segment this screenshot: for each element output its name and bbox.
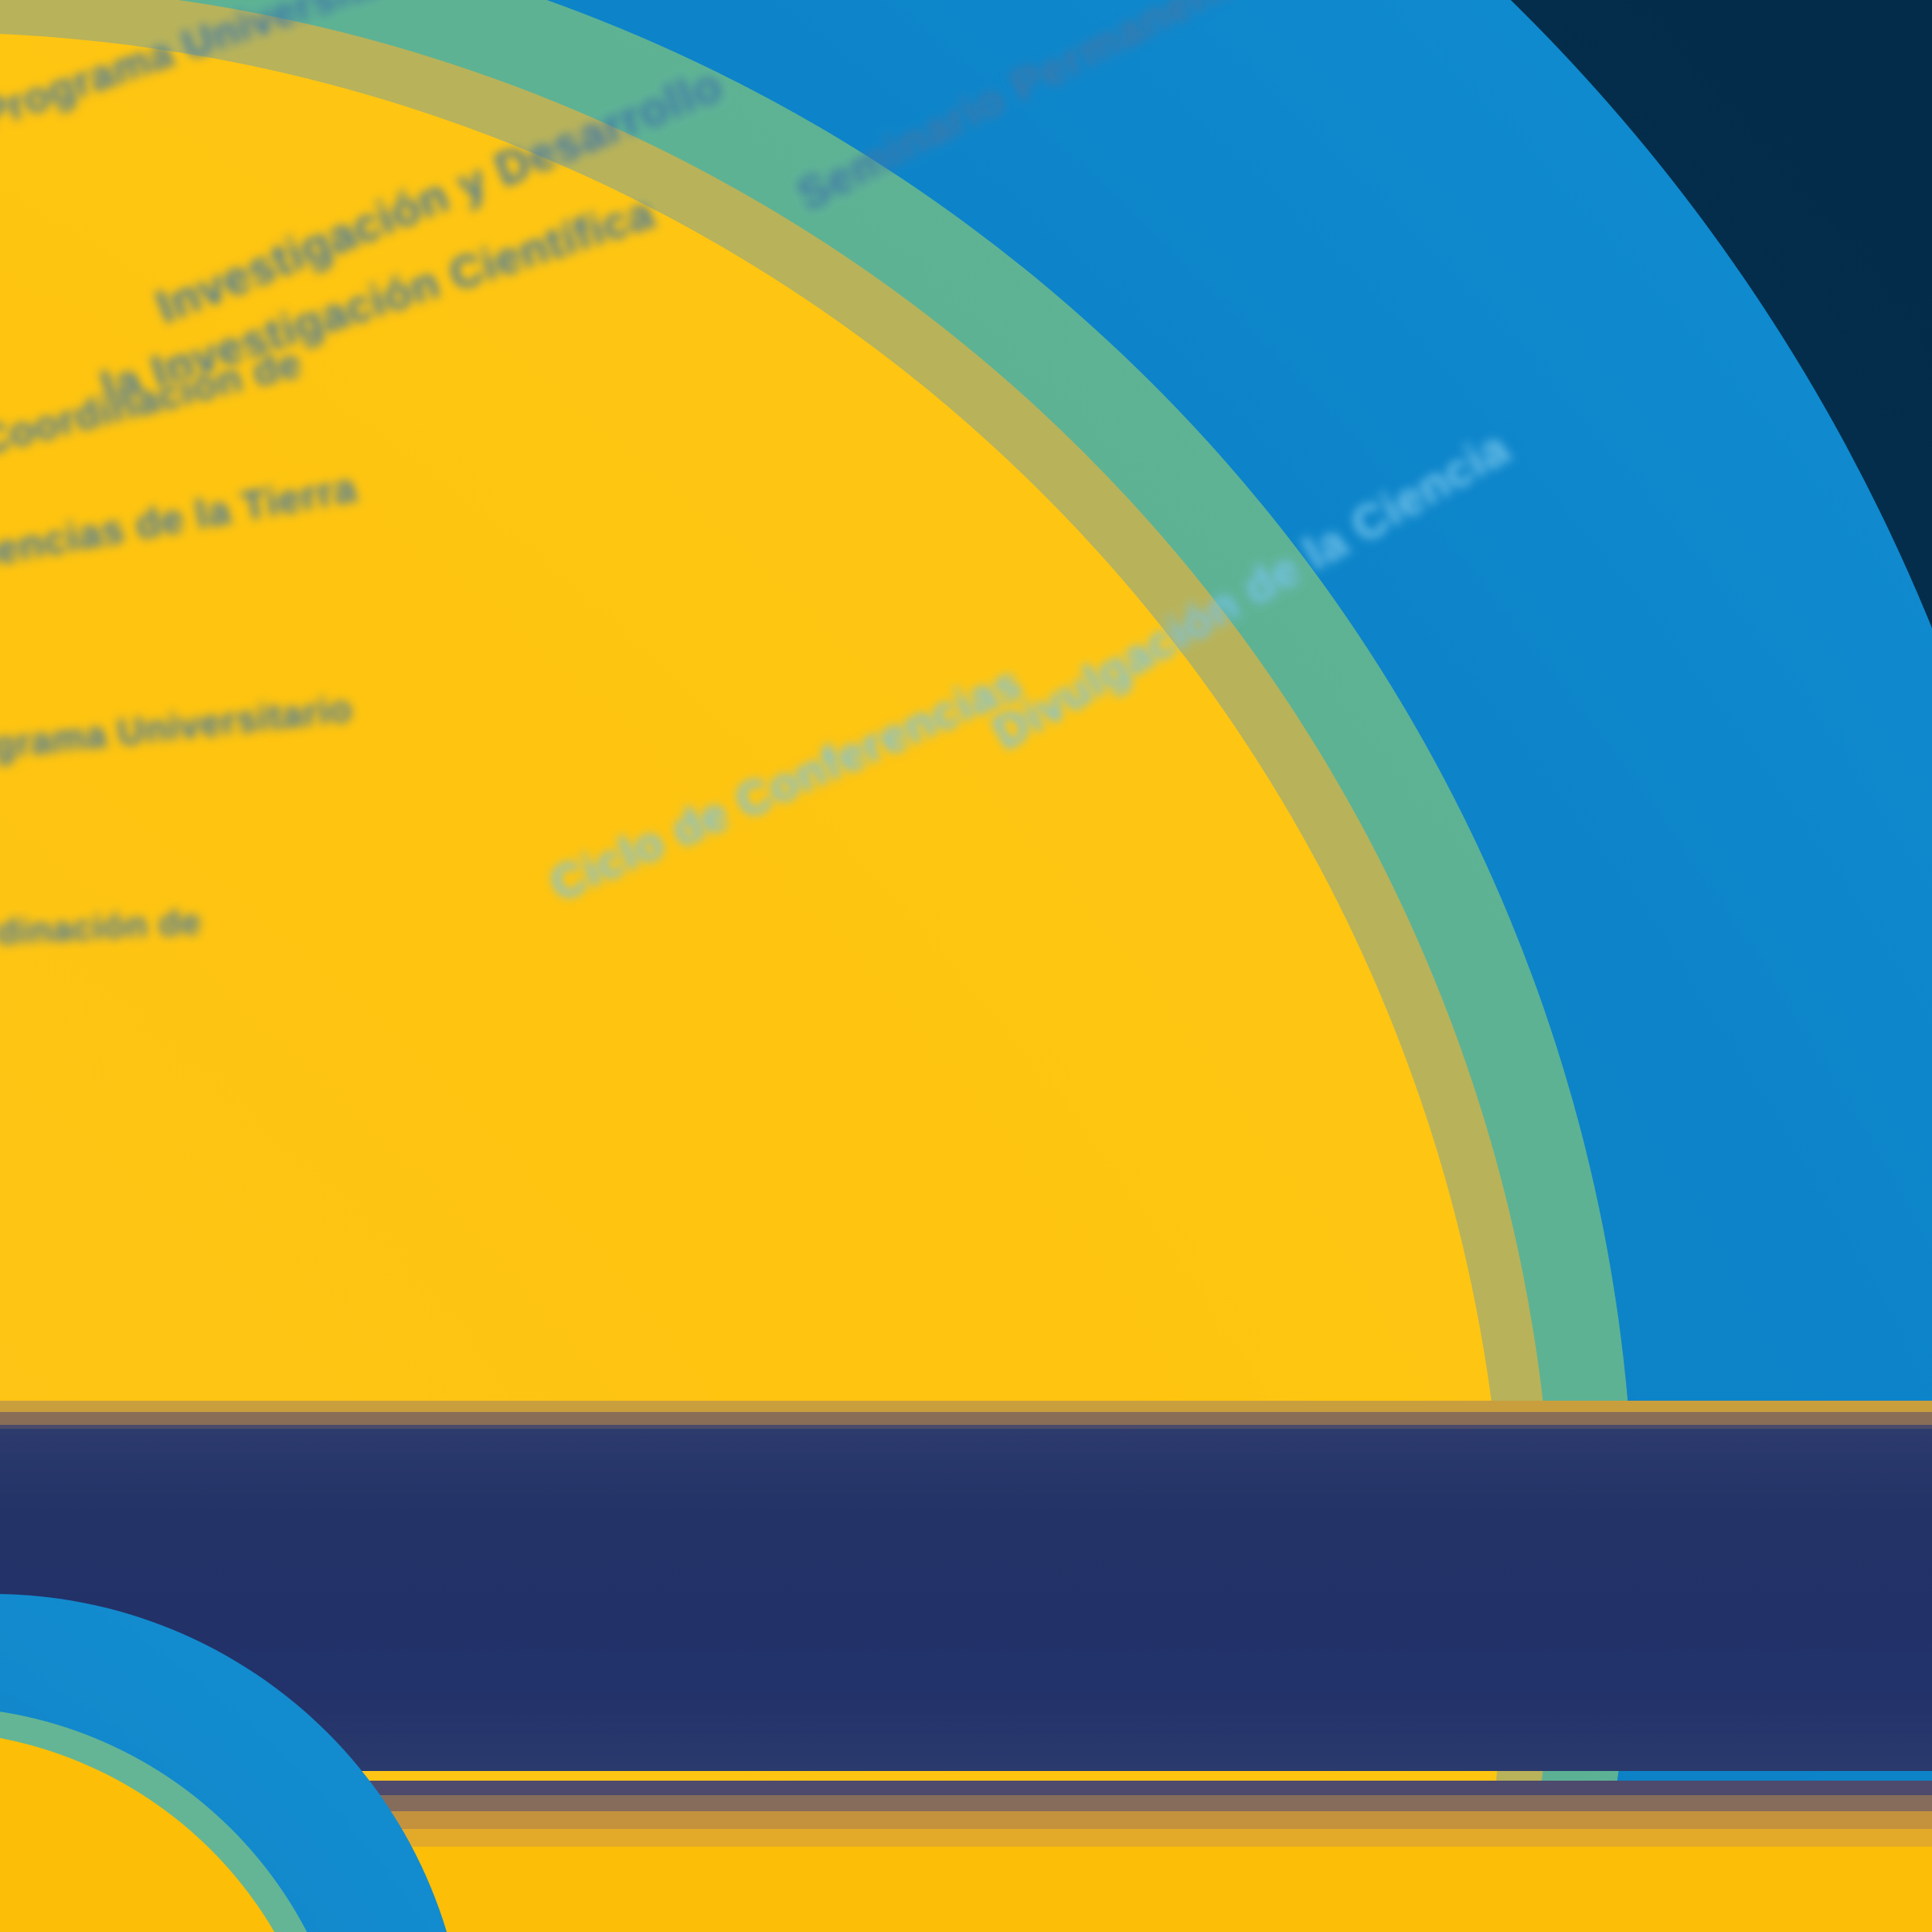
rule-brown-top <box>0 1412 1932 1425</box>
poster-canvas: Programa Universitario Seminario Permane… <box>0 0 1932 1932</box>
rule-gold-top <box>0 1401 1932 1412</box>
